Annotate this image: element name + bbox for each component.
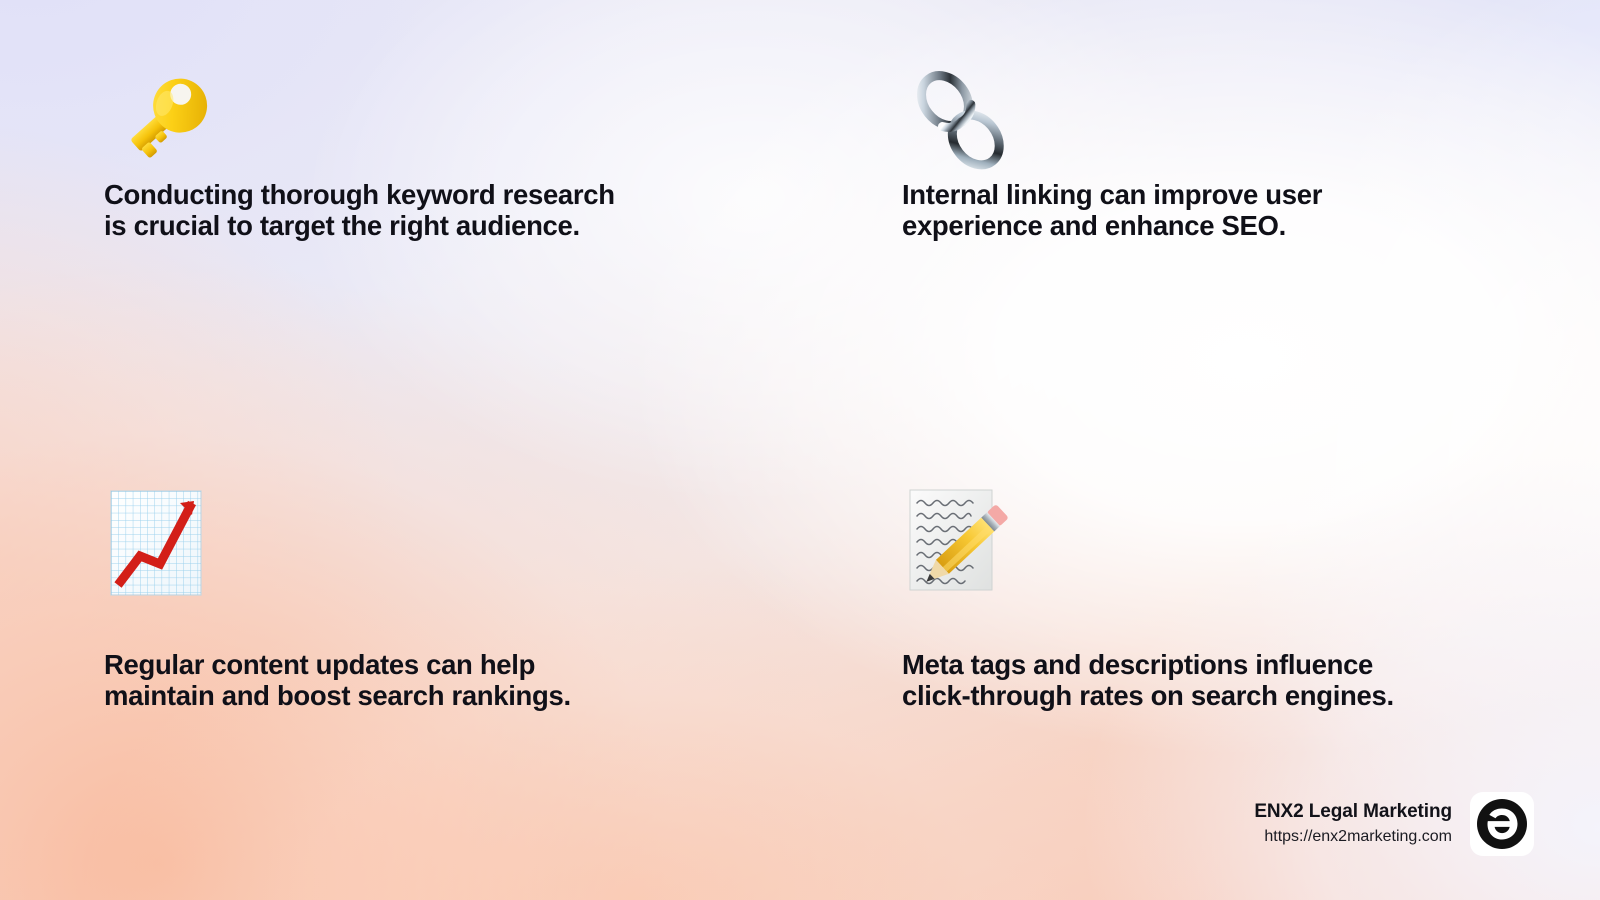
tip-card-internal-linking: Internal linking can improve user experi… <box>902 62 1522 241</box>
tip-card-keyword-research: Conducting thorough keyword research is … <box>104 62 724 241</box>
brand-name: ENX2 Legal Marketing <box>1254 800 1452 824</box>
infographic-canvas: Conducting thorough keyword research is … <box>0 0 1600 900</box>
tip-card-meta-tags: Meta tags and descriptions influence cli… <box>902 484 1522 711</box>
chart-increasing-icon <box>104 484 724 604</box>
brand-url[interactable]: https://enx2marketing.com <box>1254 827 1452 848</box>
tip-text: Conducting thorough keyword research is … <box>104 180 724 241</box>
tip-card-content-updates: Regular content updates can help maintai… <box>104 484 724 711</box>
key-icon <box>104 62 724 180</box>
enx2-schwa-logo-icon[interactable] <box>1470 792 1534 856</box>
memo-icon <box>902 484 1522 604</box>
chain-link-icon <box>902 62 1522 180</box>
tip-text: Regular content updates can help maintai… <box>104 650 724 711</box>
tip-text: Meta tags and descriptions influence cli… <box>902 650 1522 711</box>
brand-footer: ENX2 Legal Marketing https://enx2marketi… <box>1254 792 1534 856</box>
brand-text-block: ENX2 Legal Marketing https://enx2marketi… <box>1254 800 1452 849</box>
content-layer: Conducting thorough keyword research is … <box>0 0 1600 900</box>
tip-text: Internal linking can improve user experi… <box>902 180 1522 241</box>
